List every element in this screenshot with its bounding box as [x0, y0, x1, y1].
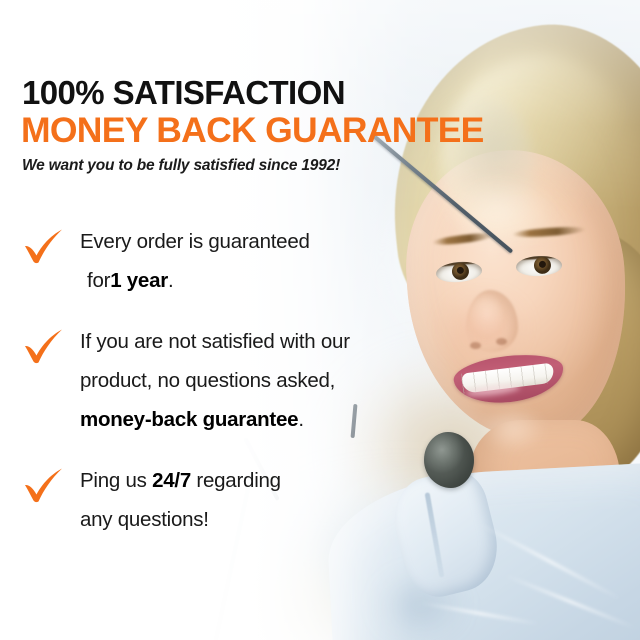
bullet-1-line-1: Every order is guaranteed: [80, 230, 310, 253]
bullet-2-line-3-suffix: .: [298, 408, 303, 431]
list-item: Every order is guaranteed for 1 year.: [22, 222, 422, 300]
headline-line-1: 100% SATISFACTION: [22, 76, 345, 109]
bullet-2-line-2: product, no questions asked,: [80, 369, 335, 392]
bullet-3-line-1-prefix: Ping us: [80, 469, 152, 492]
bullet-3-line-2: any questions!: [80, 508, 209, 531]
orange-checkmark-icon: [22, 226, 66, 266]
bullet-1-line-2-bold: 1 year: [110, 269, 168, 292]
bullet-1-line-2-suffix: .: [168, 269, 173, 292]
subheadline: We want you to be fully satisfied since …: [22, 157, 340, 175]
list-item-text: Every order is guaranteed for 1 year.: [80, 222, 422, 300]
bullet-2-line-3-bold: money-back guarantee: [80, 408, 298, 431]
headline-line-2: MONEY BACK GUARANTEE: [21, 113, 484, 149]
list-item-text: Ping us 24/7 regarding any questions!: [80, 461, 422, 539]
orange-checkmark-icon: [22, 465, 66, 505]
bullet-2-line-1: If you are not satisfied with our: [80, 330, 350, 353]
bullet-3-line-1-suffix: regarding: [191, 469, 281, 492]
orange-checkmark-icon: [22, 326, 66, 366]
bullet-3-line-1-bold: 24/7: [152, 469, 191, 492]
bullet-1-line-2-prefix: for: [80, 261, 110, 300]
guarantee-bullet-list: Every order is guaranteed for 1 year. If…: [22, 222, 422, 561]
satisfaction-guarantee-banner: 100% SATISFACTION MONEY BACK GUARANTEE W…: [0, 0, 640, 640]
list-item: Ping us 24/7 regarding any questions!: [22, 461, 422, 539]
banner-content: 100% SATISFACTION MONEY BACK GUARANTEE W…: [0, 0, 640, 640]
list-item: If you are not satisfied with our produc…: [22, 322, 422, 439]
list-item-text: If you are not satisfied with our produc…: [80, 322, 422, 439]
